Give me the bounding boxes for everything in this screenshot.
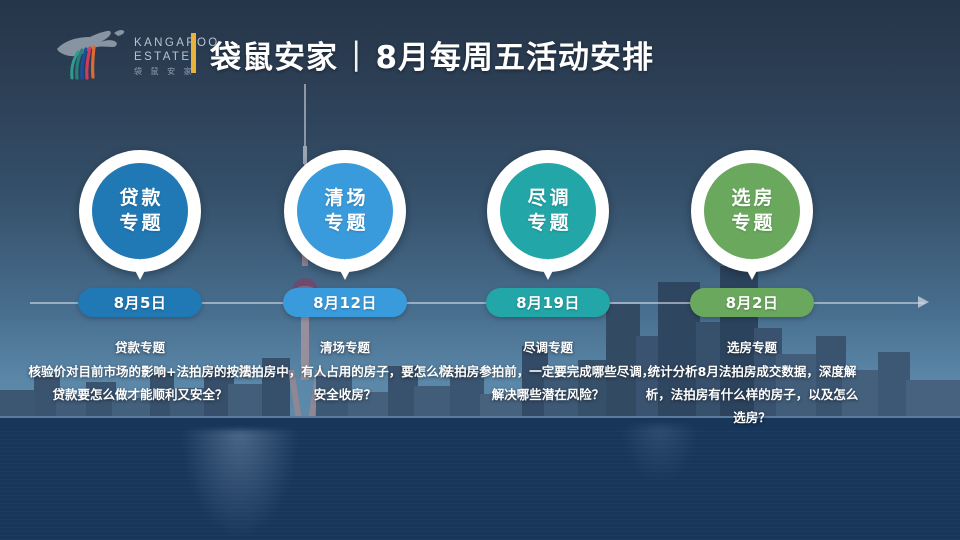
map-pin-icon[interactable]: 选房 专题 bbox=[691, 150, 813, 280]
date-badge[interactable]: 8月19日 bbox=[486, 288, 610, 317]
map-pin-icon[interactable]: 清场 专题 bbox=[284, 150, 406, 280]
slide-header: KANGAROO ESTATE 袋 鼠 安 家 袋鼠安家 | 8月每周五活动安排 bbox=[0, 0, 960, 104]
description-title: 清场专题 bbox=[233, 336, 457, 359]
map-pin-icon[interactable]: 尽调 专题 bbox=[487, 150, 609, 280]
page-title: 袋鼠安家 | 8月每周五活动安排 bbox=[210, 34, 654, 74]
page-title-separator: | bbox=[351, 36, 362, 72]
kangaroo-logo-icon bbox=[52, 26, 130, 80]
date-badge[interactable]: 8月12日 bbox=[283, 288, 407, 317]
description-body: 核验价对目前市场的影响+法拍房的按揭贷款要怎么做才能顺利又安全？ bbox=[28, 360, 252, 406]
logo-line-2: ESTATE bbox=[134, 50, 220, 64]
slide-canvas: KANGAROO ESTATE 袋 鼠 安 家 袋鼠安家 | 8月每周五活动安排… bbox=[0, 0, 960, 540]
date-badge-label: 8月2日 bbox=[726, 292, 779, 313]
date-badge-label: 8月12日 bbox=[313, 292, 377, 313]
description-title: 贷款专题 bbox=[28, 336, 252, 359]
description-title: 尽调专题 bbox=[436, 336, 660, 359]
node-description: 选房专题 统计分析8月法拍房成交数据，深度解析，法拍房有什么样的房子，以及怎么选… bbox=[640, 336, 864, 429]
pin-label-line-1: 选房 bbox=[728, 188, 775, 209]
pin-label: 清场 专题 bbox=[297, 163, 393, 259]
description-title: 选房专题 bbox=[640, 336, 864, 359]
map-pin-icon[interactable]: 贷款 专题 bbox=[79, 150, 201, 280]
node-description: 贷款专题 核验价对目前市场的影响+法拍房的按揭贷款要怎么做才能顺利又安全？ bbox=[28, 336, 252, 406]
description-body: 法拍房参拍前，一定要完成哪些尽调，解决哪些潜在风险？ bbox=[436, 360, 660, 406]
logo-line-1: KANGAROO bbox=[134, 36, 220, 50]
timeline-arrow-icon bbox=[918, 296, 929, 308]
pin-label-line-2: 专题 bbox=[524, 213, 571, 234]
date-badge[interactable]: 8月5日 bbox=[78, 288, 202, 317]
pin-label: 贷款 专题 bbox=[92, 163, 188, 259]
page-title-sub: 8月每周五活动安排 bbox=[375, 32, 654, 77]
description-body: 统计分析8月法拍房成交数据，深度解析，法拍房有什么样的房子，以及怎么选房？ bbox=[640, 360, 864, 429]
date-badge[interactable]: 8月2日 bbox=[690, 288, 814, 317]
pin-label-line-2: 专题 bbox=[321, 213, 368, 234]
brand-logo-text: KANGAROO ESTATE 袋 鼠 安 家 bbox=[134, 36, 220, 78]
brand-logo: KANGAROO ESTATE 袋 鼠 安 家 bbox=[52, 26, 192, 80]
pin-label-line-1: 尽调 bbox=[524, 188, 571, 209]
water-ripples bbox=[0, 430, 960, 540]
title-accent-bar bbox=[191, 33, 196, 73]
pin-label-line-1: 贷款 bbox=[116, 188, 163, 209]
pin-label: 尽调 专题 bbox=[500, 163, 596, 259]
node-description: 清场专题 法拍房中，有人占用的房子，要怎么样安全收房？ bbox=[233, 336, 457, 406]
date-badge-label: 8月5日 bbox=[114, 292, 167, 313]
pin-label-line-1: 清场 bbox=[321, 188, 368, 209]
pin-label-line-2: 专题 bbox=[116, 213, 163, 234]
description-body: 法拍房中，有人占用的房子，要怎么样安全收房？ bbox=[233, 360, 457, 406]
node-description: 尽调专题 法拍房参拍前，一定要完成哪些尽调，解决哪些潜在风险？ bbox=[436, 336, 660, 406]
date-badge-label: 8月19日 bbox=[516, 292, 580, 313]
logo-line-3: 袋 鼠 安 家 bbox=[134, 65, 220, 78]
page-title-main: 袋鼠安家 bbox=[210, 32, 338, 77]
pin-label: 选房 专题 bbox=[704, 163, 800, 259]
pin-label-line-2: 专题 bbox=[728, 213, 775, 234]
